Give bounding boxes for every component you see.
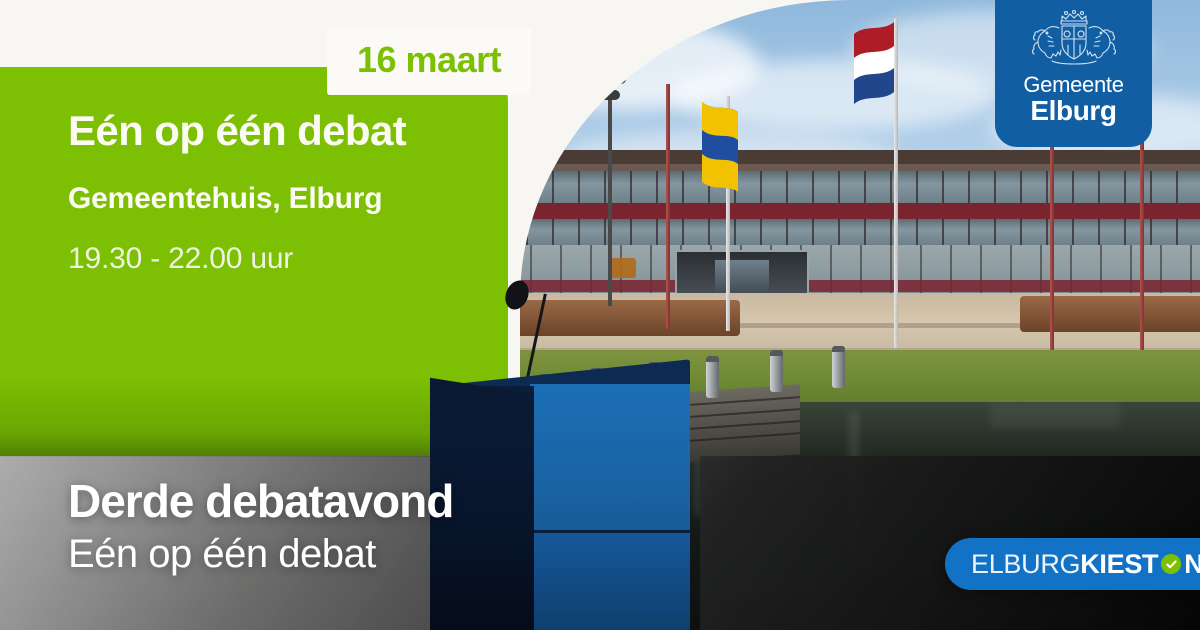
banner-canvas: Eén op één debat Gemeentehuis, Elburg 19… — [0, 0, 1200, 630]
bottom-subtitle: Eén op één debat — [68, 534, 453, 574]
elburgkiest-nl-logo[interactable]: ELBURG KIEST NL — [945, 538, 1200, 590]
event-location: Gemeentehuis, Elburg — [68, 182, 484, 216]
hedge — [1020, 296, 1200, 332]
gemeente-elburg-logo[interactable]: Gemeente Elburg — [995, 0, 1152, 147]
bottom-caption-text: Derde debatavond Eén op één debat — [68, 478, 453, 574]
gemeente-label: Gemeente — [1023, 73, 1123, 96]
event-title: Eén op één debat — [68, 109, 484, 154]
date-badge: 16 maart — [327, 27, 531, 95]
coat-of-arms-icon — [1026, 9, 1122, 71]
flagpole — [666, 84, 670, 329]
town-hall-building — [520, 150, 1200, 295]
green-check-circle-icon — [1161, 554, 1181, 574]
bottom-title: Derde debatavond — [68, 478, 453, 524]
event-time: 19.30 - 22.00 uur — [68, 242, 484, 275]
lamp-post — [608, 76, 612, 306]
pill-part-elburg: ELBURG — [971, 549, 1080, 580]
pill-part-nl: NL — [1184, 549, 1200, 580]
flag-gelderland — [698, 100, 742, 215]
hedge — [520, 300, 740, 336]
building-crest — [610, 258, 636, 278]
pill-part-kiest: KIEST — [1080, 549, 1158, 580]
gemeente-city: Elburg — [1030, 96, 1116, 125]
flag-netherlands — [850, 18, 902, 148]
